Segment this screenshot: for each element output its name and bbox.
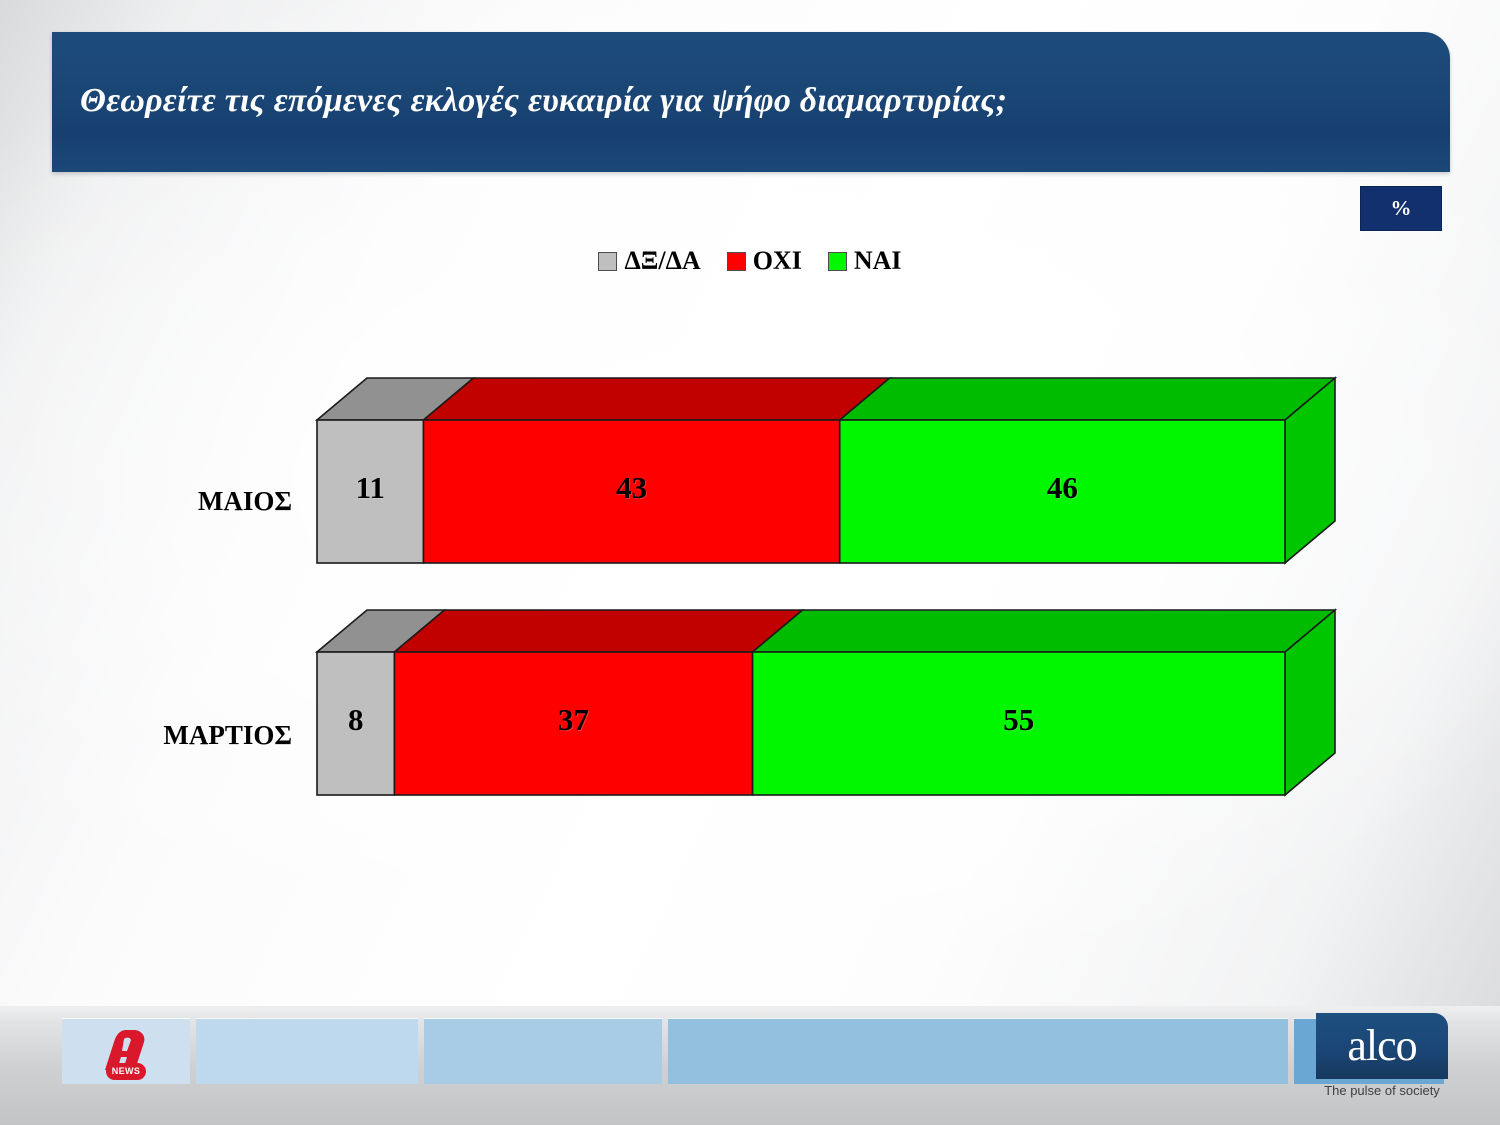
bar-segment-ΜΑΡΤΙΟΣ-ΝΑΙ	[753, 652, 1285, 795]
legend-item-ΝΑΙ: ΝΑΙ	[828, 248, 902, 274]
legend-item-ΟΧΙ: ΟΧΙ	[727, 248, 802, 274]
bar-segment-ΜΑΙΟΣ-ΟΧΙ	[423, 420, 839, 563]
bar-segment-ΜΑΙΟΣ-ΝΑΙ	[840, 420, 1285, 563]
alco-tagline: The pulse of society	[1316, 1083, 1448, 1098]
bar-top-face-ΟΧΙ	[423, 378, 889, 420]
alpha-a-icon: NEWS	[100, 1026, 152, 1078]
footer-strip: NEWS	[0, 1006, 1500, 1125]
bar-group-ΜΑΙΟΣ	[317, 378, 1335, 563]
footer-accent-block	[424, 1018, 662, 1084]
alco-logo-box: alco	[1316, 1013, 1448, 1079]
legend-swatch-icon	[598, 252, 617, 271]
unit-badge: %	[1360, 186, 1442, 231]
chart-legend: ΔΞ/ΔΑΟΧΙΝΑΙ	[0, 248, 1500, 274]
legend-swatch-icon	[727, 252, 746, 271]
legend-label: ΟΧΙ	[753, 248, 802, 274]
alco-wordmark: alco	[1347, 1024, 1416, 1068]
alco-logo: alco The pulse of society	[1316, 1013, 1448, 1098]
title-banner: Θεωρείτε τις επόμενες εκλογές ευκαιρία γ…	[52, 32, 1450, 172]
bar-segment-ΜΑΡΤΙΟΣ-ΟΧΙ	[394, 652, 752, 795]
alpha-news-logo: NEWS	[62, 1018, 190, 1084]
bar-segment-ΜΑΙΟΣ-ΔΞ/ΔΑ	[317, 420, 423, 563]
page-title: Θεωρείτε τις επόμενες εκλογές ευκαιρία γ…	[80, 82, 1420, 120]
bar-top-face-ΝΑΙ	[753, 610, 1335, 652]
legend-swatch-icon	[828, 252, 847, 271]
legend-label: ΔΞ/ΔΑ	[624, 248, 700, 274]
footer-accent-block	[668, 1018, 1288, 1084]
bar-segment-ΜΑΡΤΙΟΣ-ΔΞ/ΔΑ	[317, 652, 394, 795]
bar-group-ΜΑΡΤΙΟΣ	[317, 610, 1335, 795]
slide-canvas: Θεωρείτε τις επόμενες εκλογές ευκαιρία γ…	[0, 0, 1500, 1125]
footer-accent-block	[196, 1018, 418, 1084]
alpha-news-badge: NEWS	[106, 1063, 146, 1080]
legend-label: ΝΑΙ	[854, 248, 902, 274]
bar-top-face-ΝΑΙ	[840, 378, 1335, 420]
legend-item-ΔΞ/ΔΑ: ΔΞ/ΔΑ	[598, 248, 700, 274]
bar-top-face-ΟΧΙ	[394, 610, 802, 652]
